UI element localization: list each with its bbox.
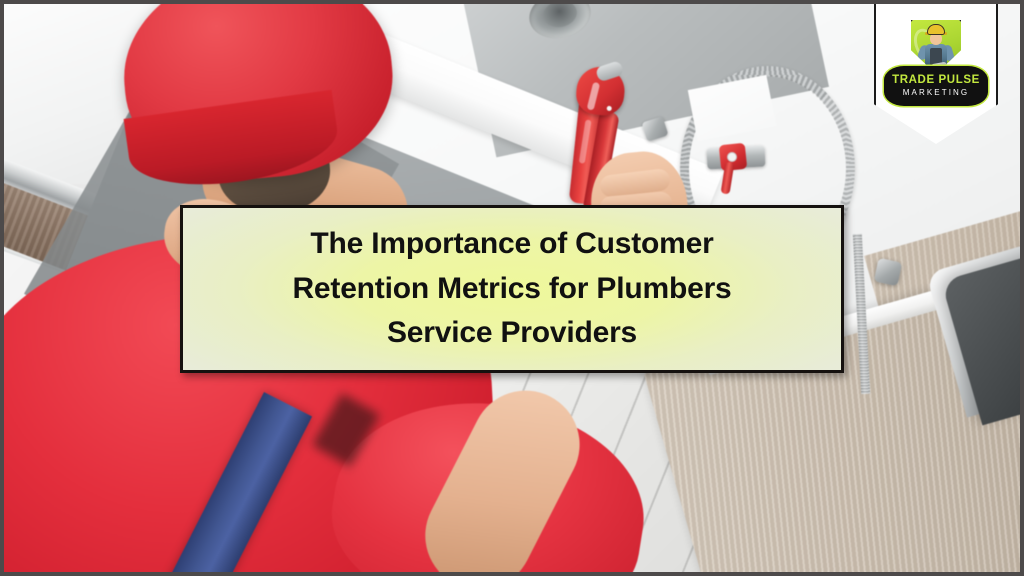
worker-hard-hat-icon <box>928 25 944 34</box>
title-line-3: Service Providers <box>387 311 637 355</box>
title-line-2: Retention Metrics for Plumbers <box>292 267 731 311</box>
brand-name-pill: TRADE PULSE MARKETING <box>884 66 988 106</box>
title-line-1: The Importance of Customer <box>310 222 713 266</box>
banner-image: TRADE PULSE MARKETING The Importance of … <box>0 0 1024 576</box>
title-card: The Importance of Customer Retention Met… <box>180 205 844 373</box>
brand-name-primary: TRADE PULSE <box>892 75 980 87</box>
ball-valve-indicator-icon <box>727 152 737 162</box>
hose-connector-nut-bottom <box>874 258 902 286</box>
brand-name-secondary: MARKETING <box>903 89 969 97</box>
